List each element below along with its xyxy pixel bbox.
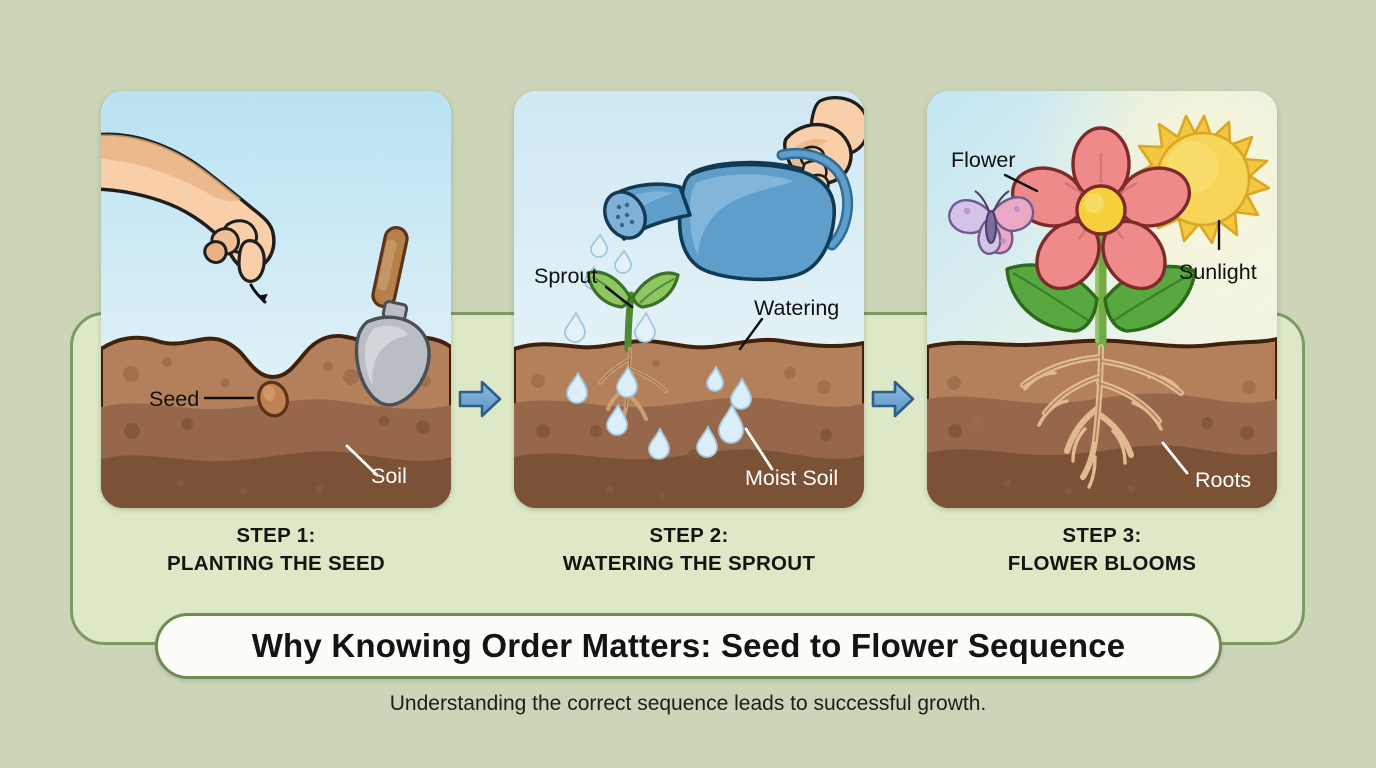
step-3-illustration: Flower Sunlight Roots: [927, 91, 1277, 508]
label-seed-text: Seed: [149, 387, 199, 411]
step-1-caption: STEP 1: PLANTING THE SEED: [101, 522, 451, 578]
page-subtitle: Understanding the correct sequence leads…: [0, 692, 1376, 716]
label-moist-soil-text: Moist Soil: [745, 466, 838, 490]
label-watering-text: Watering: [754, 296, 839, 320]
step-2-title: WATERING THE SPROUT: [514, 550, 864, 578]
step-2-panel[interactable]: Sprout Watering Moist Soil: [514, 91, 864, 508]
step-3-number: STEP 3:: [927, 522, 1277, 550]
step-3-caption: STEP 3: FLOWER BLOOMS: [927, 522, 1277, 578]
step-2-illustration: Sprout Watering Moist Soil: [514, 91, 864, 508]
step-3-title: FLOWER BLOOMS: [927, 550, 1277, 578]
step-3-panel[interactable]: Flower Sunlight Roots: [927, 91, 1277, 508]
label-sunlight-text: Sunlight: [1179, 260, 1257, 284]
title-banner: Why Knowing Order Matters: Seed to Flowe…: [155, 613, 1222, 679]
step-1-panel[interactable]: Seed Soil: [101, 91, 451, 508]
step-2-number: STEP 2:: [514, 522, 864, 550]
step-2-caption: STEP 2: WATERING THE SPROUT: [514, 522, 864, 578]
step-1-title: PLANTING THE SEED: [101, 550, 451, 578]
label-roots-text: Roots: [1195, 468, 1251, 492]
label-sprout-text: Sprout: [534, 264, 597, 288]
arrow-step2-to-step3-icon: [871, 378, 915, 420]
label-soil-text: Soil: [371, 464, 407, 488]
arrow-step1-to-step2-icon: [458, 378, 502, 420]
step-1-illustration: Seed Soil: [101, 91, 451, 508]
page-title: Why Knowing Order Matters: Seed to Flowe…: [252, 627, 1126, 665]
label-flower-text: Flower: [951, 148, 1016, 172]
step-1-number: STEP 1:: [101, 522, 451, 550]
